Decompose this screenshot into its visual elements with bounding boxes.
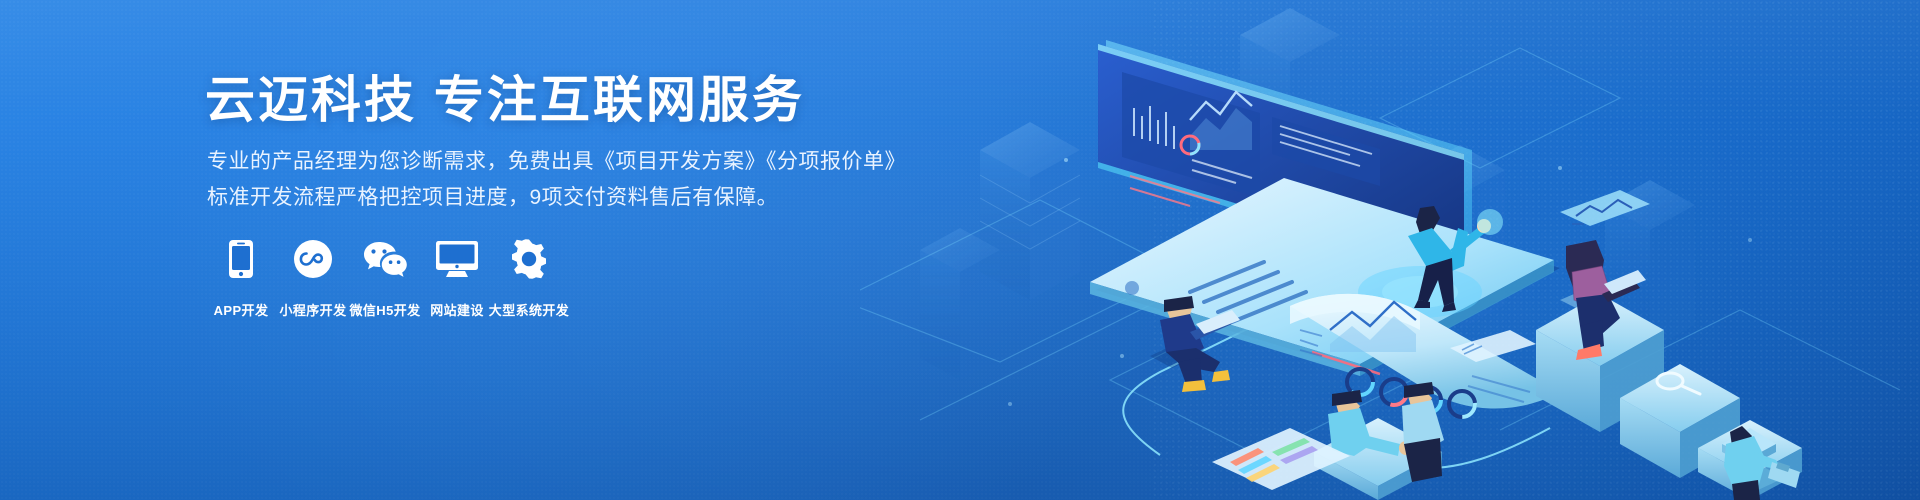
gear-icon (509, 232, 549, 286)
service-label: 小程序开发 (279, 300, 346, 319)
service-label: 微信H5开发 (349, 300, 420, 319)
banner-subtitle: 专业的产品经理为您诊断需求，免费出具《项目开发方案》《分项报价单》 标准开发流程… (207, 144, 906, 216)
service-label: APP开发 (214, 300, 269, 319)
mobile-phone-icon (228, 232, 254, 286)
service-item-website[interactable]: 网站建设 (421, 232, 493, 319)
banner-content: 云迈科技 专注互联网服务 专业的产品经理为您诊断需求，免费出具《项目开发方案》《… (205, 0, 965, 500)
service-item-mini-program[interactable]: 小程序开发 (277, 232, 349, 319)
service-list: APP开发 小程序开发 (205, 232, 565, 319)
subtitle-line-2: 标准开发流程严格把控项目进度，9项交付资料售后有保障。 (207, 180, 906, 216)
monitor-icon (435, 232, 479, 286)
mini-program-icon (293, 232, 333, 286)
page-title: 云迈科技 专注互联网服务 (205, 72, 805, 130)
service-item-wechat-h5[interactable]: 微信H5开发 (349, 232, 421, 319)
wechat-icon (362, 232, 408, 286)
subtitle-line-1: 专业的产品经理为您诊断需求，免费出具《项目开发方案》《分项报价单》 (207, 144, 906, 180)
service-label: 大型系统开发 (489, 300, 569, 319)
promo-banner: 云迈科技 专注互联网服务 专业的产品经理为您诊断需求，免费出具《项目开发方案》《… (0, 0, 1920, 500)
service-label: 网站建设 (430, 300, 484, 319)
service-item-app[interactable]: APP开发 (205, 232, 277, 319)
service-item-large-system[interactable]: 大型系统开发 (493, 232, 565, 319)
